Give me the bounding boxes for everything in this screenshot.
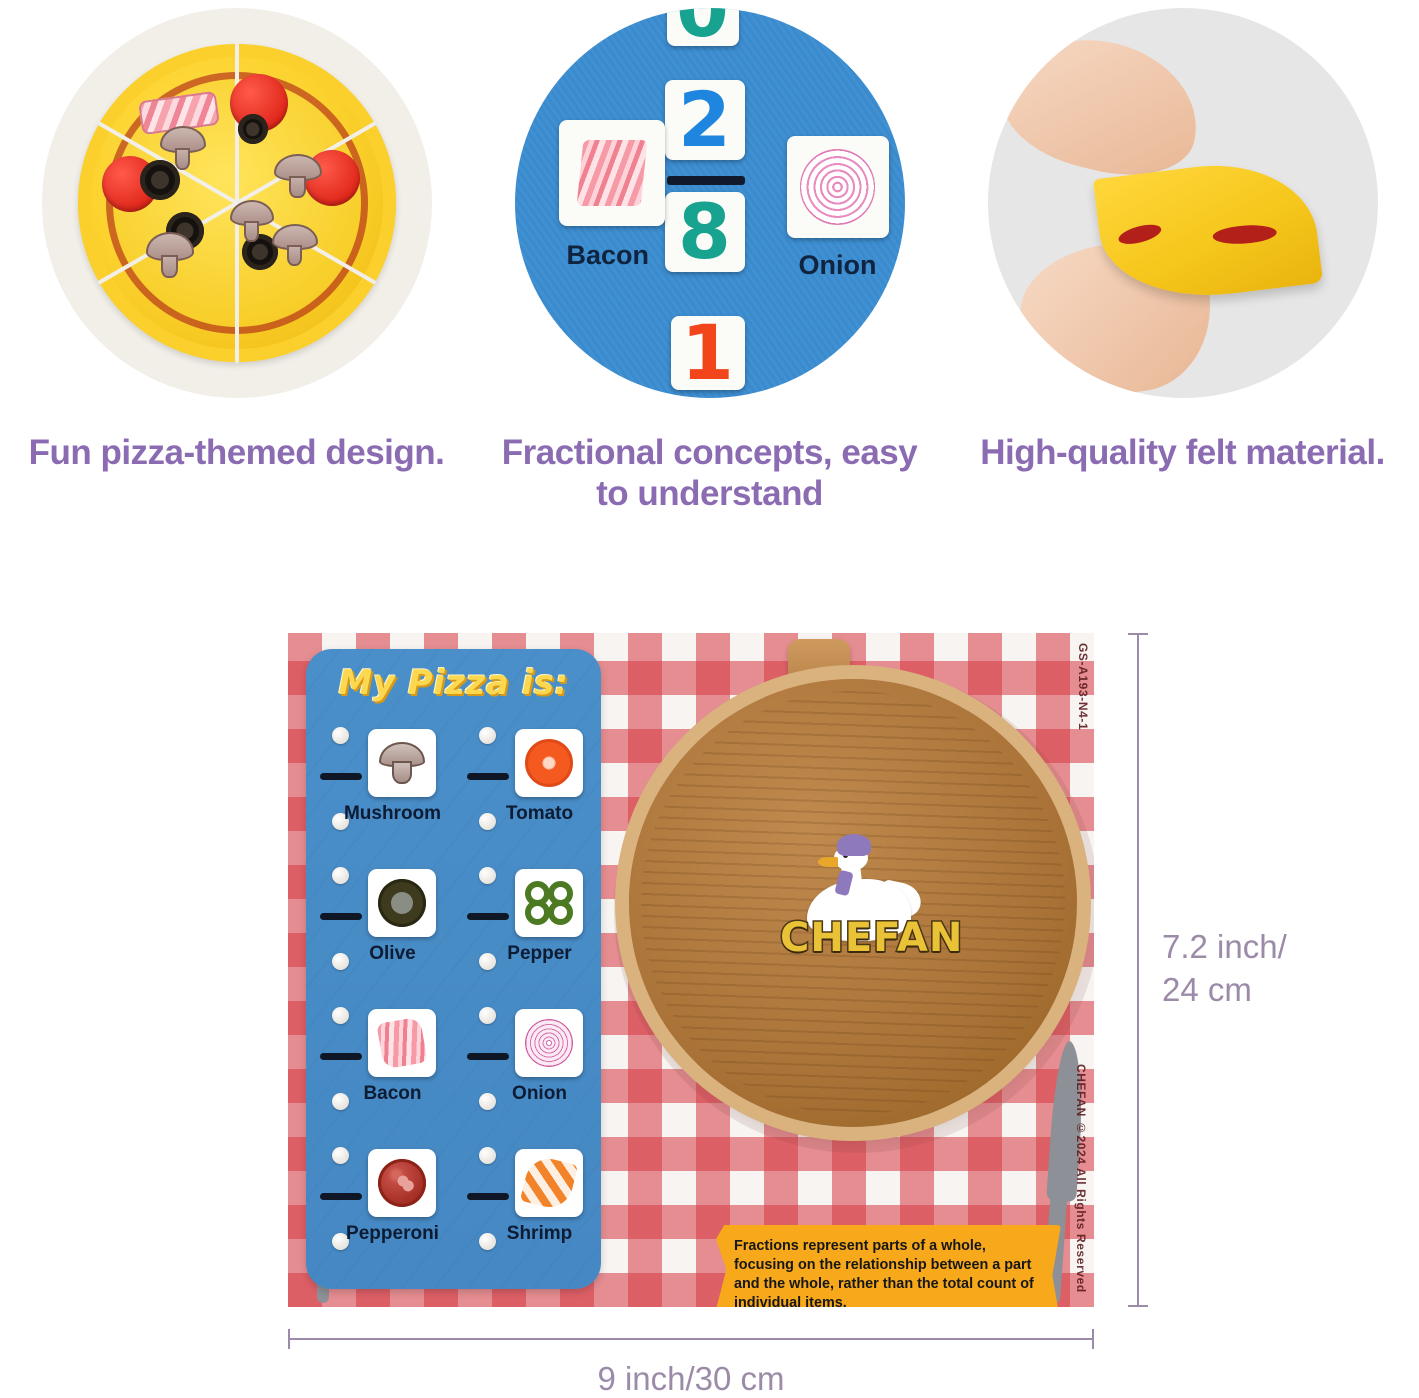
topping-slot-olive[interactable]: Olive xyxy=(306,861,453,997)
topping-tile[interactable] xyxy=(515,1009,583,1077)
tile-onion-label: Onion xyxy=(799,250,877,281)
olive-icon xyxy=(378,879,426,927)
topping-tile[interactable] xyxy=(515,729,583,797)
tile-one: 1 xyxy=(671,316,745,390)
numerator-dot[interactable] xyxy=(479,1147,496,1164)
topping-tile[interactable] xyxy=(368,729,436,797)
feature-caption-2: Fractional concepts, easy to understand xyxy=(473,432,946,515)
numerator-dot[interactable] xyxy=(332,1007,349,1024)
feature-caption-3: High-quality felt material. xyxy=(946,432,1419,473)
pepperoni-icon xyxy=(378,1159,426,1207)
tile-bacon-label: Bacon xyxy=(567,240,650,271)
activity-panel: My Pizza is: Mushroom xyxy=(306,649,601,1289)
numerator-dot[interactable] xyxy=(479,867,496,884)
topping-tile[interactable] xyxy=(368,1009,436,1077)
topping-tile[interactable] xyxy=(368,869,436,937)
topping-label: Mushroom xyxy=(306,803,453,825)
topping-label: Pepperoni xyxy=(306,1223,453,1245)
fraction-bar xyxy=(467,773,509,780)
feature-caption-1: Fun pizza-themed design. xyxy=(0,432,473,473)
bacon-icon xyxy=(376,1017,427,1070)
topping-slot-pepper[interactable]: Pepper xyxy=(453,861,600,997)
fraction-bar xyxy=(320,773,362,780)
fraction-tiles-photo: 0 2 8 1 Bacon Onion xyxy=(515,8,905,398)
bacon-icon xyxy=(576,140,647,206)
numerator-dot[interactable] xyxy=(479,1007,496,1024)
numerator-dot[interactable] xyxy=(332,727,349,744)
topping-tile[interactable] xyxy=(368,1149,436,1217)
topping-tile[interactable] xyxy=(515,1149,583,1217)
tile-onion-icon xyxy=(787,136,889,238)
tile-numerator: 2 xyxy=(665,80,745,160)
fraction-bar xyxy=(467,913,509,920)
tile-zero: 0 xyxy=(667,8,739,46)
fraction-bar xyxy=(320,1053,362,1060)
fraction-bar xyxy=(667,176,745,185)
height-dimension-line xyxy=(1137,633,1139,1307)
chefan-logo: CHEFAN xyxy=(785,843,937,961)
mushroom-icon xyxy=(379,742,425,784)
panel-title: My Pizza is: xyxy=(306,663,601,703)
shrimp-icon xyxy=(520,1154,578,1212)
topping-row: Olive Pepper xyxy=(306,861,601,997)
product-diagram: CHEFAN My Pizza is: xyxy=(0,588,1419,1384)
pizza-play-mat: CHEFAN My Pizza is: xyxy=(288,633,1094,1307)
onion-icon xyxy=(525,1019,573,1067)
tile-bacon-icon xyxy=(559,120,665,226)
topping-label: Bacon xyxy=(306,1083,453,1105)
feature-card-1: Fun pizza-themed design. xyxy=(0,0,473,560)
copyright-text: CHEFAN ©2024 All Rights Reserved xyxy=(1074,1064,1088,1293)
feature-card-3: High-quality felt material. xyxy=(946,0,1419,560)
topping-label: Pepper xyxy=(453,943,600,965)
topping-slot-onion[interactable]: Onion xyxy=(453,1001,600,1137)
tomato-icon xyxy=(525,739,573,787)
topping-row: Mushroom Tomato xyxy=(306,721,601,857)
topping-label: Shrimp xyxy=(453,1223,600,1245)
topping-slot-mushroom[interactable]: Mushroom xyxy=(306,721,453,857)
felt-pizza-photo xyxy=(42,8,432,398)
fraction-bar xyxy=(467,1193,509,1200)
topping-row: Bacon Onion xyxy=(306,1001,601,1137)
width-dimension-label: 9 inch/30 cm xyxy=(288,1360,1094,1398)
fraction-bar xyxy=(320,913,362,920)
topping-slot-bacon[interactable]: Bacon xyxy=(306,1001,453,1137)
topping-slot-shrimp[interactable]: Shrimp xyxy=(453,1141,600,1277)
topping-label: Olive xyxy=(306,943,453,965)
topping-tile[interactable] xyxy=(515,869,583,937)
sku-text: GS-A193-N4-1 xyxy=(1076,643,1090,730)
topping-row: Pepperoni Shrimp xyxy=(306,1141,601,1277)
height-line-1: 7.2 inch/ xyxy=(1162,926,1287,969)
fraction-bar xyxy=(320,1193,362,1200)
height-line-2: 24 cm xyxy=(1162,969,1287,1012)
info-callout: Fractions represent parts of a whole, fo… xyxy=(716,1225,1061,1307)
numerator-dot[interactable] xyxy=(479,727,496,744)
pepper-icon xyxy=(525,881,573,925)
topping-label: Tomato xyxy=(453,803,600,825)
height-dimension-label: 7.2 inch/ 24 cm xyxy=(1162,926,1287,1012)
feature-card-2: 0 2 8 1 Bacon Onion Fractional concepts,… xyxy=(473,0,946,560)
pizza-disc-graphic xyxy=(78,44,396,362)
numerator-dot[interactable] xyxy=(332,1147,349,1164)
goose-beak-icon xyxy=(818,857,838,867)
feature-row: Fun pizza-themed design. 0 2 8 1 Bacon xyxy=(0,0,1419,560)
onion-icon xyxy=(800,149,875,224)
brand-wordmark: CHEFAN xyxy=(780,915,942,961)
fraction-bar xyxy=(467,1053,509,1060)
chef-hat-icon xyxy=(837,834,871,856)
width-dimension-line xyxy=(288,1338,1094,1340)
topping-slot-tomato[interactable]: Tomato xyxy=(453,721,600,857)
hand-holding-slice-photo xyxy=(988,8,1378,398)
tile-denominator: 8 xyxy=(665,192,745,272)
topping-slot-pepperoni[interactable]: Pepperoni xyxy=(306,1141,453,1277)
numerator-dot[interactable] xyxy=(332,867,349,884)
topping-label: Onion xyxy=(453,1083,600,1105)
